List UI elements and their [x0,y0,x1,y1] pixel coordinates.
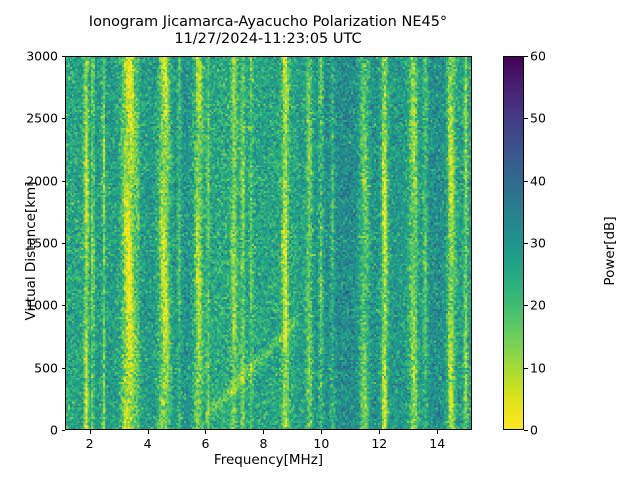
y-tick-label: 0 [3,423,58,438]
colorbar-tick-mark [524,243,528,244]
colorbar-tick-mark [524,368,528,369]
y-tick-mark [62,430,66,431]
colorbar [503,56,524,430]
ionogram-plot-area [65,56,472,430]
x-tick-label: 2 [86,436,94,451]
colorbar-tick-label: 40 [530,173,546,188]
y-tick-label: 500 [3,360,58,375]
x-tick-mark [437,430,438,434]
chart-title-block: Ionogram Jicamarca-Ayacucho Polarization… [0,14,536,48]
x-axis-label: Frequency[MHz] [65,452,472,468]
x-tick-mark [90,430,91,434]
y-tick-mark [62,56,66,57]
colorbar-tick-mark [524,430,528,431]
x-tick-label: 14 [429,436,445,451]
colorbar-tick-mark [524,118,528,119]
colorbar-tick-label: 30 [530,236,546,251]
y-tick-mark [62,181,66,182]
chart-title: Ionogram Jicamarca-Ayacucho Polarization… [0,14,536,31]
x-tick-mark [205,430,206,434]
x-tick-label: 8 [259,436,267,451]
colorbar-tick-mark [524,181,528,182]
colorbar-tick-label: 60 [530,49,546,64]
x-tick-label: 10 [313,436,329,451]
x-tick-label: 12 [371,436,387,451]
x-tick-mark [148,430,149,434]
colorbar-gradient [504,57,523,429]
colorbar-tick-mark [524,56,528,57]
colorbar-tick-mark [524,305,528,306]
colorbar-tick-label: 20 [530,298,546,313]
y-axis-label: Virtual Distance[km] [23,141,39,361]
y-tick-mark [62,305,66,306]
y-tick-label: 2500 [3,111,58,126]
x-tick-label: 4 [144,436,152,451]
figure-canvas: Ionogram Jicamarca-Ayacucho Polarization… [0,0,640,480]
ionogram-heatmap [66,57,472,430]
colorbar-tick-label: 50 [530,111,546,126]
x-tick-mark [379,430,380,434]
colorbar-label: Power[dB] [602,141,618,361]
chart-subtitle: 11/27/2024-11:23:05 UTC [0,31,536,48]
y-tick-mark [62,243,66,244]
x-tick-mark [321,430,322,434]
x-tick-label: 6 [202,436,210,451]
y-tick-mark [62,118,66,119]
y-tick-label: 3000 [3,49,58,64]
y-tick-mark [62,368,66,369]
x-tick-mark [263,430,264,434]
colorbar-tick-label: 0 [530,423,538,438]
colorbar-tick-label: 10 [530,360,546,375]
